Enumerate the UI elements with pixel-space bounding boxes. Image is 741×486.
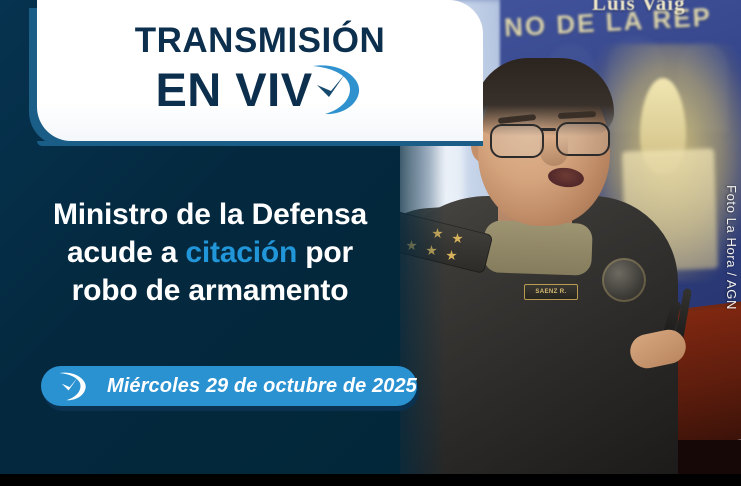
speaker-nose [540,136,568,166]
speaker-collar [483,220,593,276]
photo-credit: Foto La Hora / AGN [724,185,739,310]
live-stream-news-card: NO DE LA REP SAENZ R. L [0,0,741,486]
headline-line-2: acude a citación por [34,234,386,272]
bottom-bar [0,474,741,486]
live-title-line1: TRANSMISIÓN [135,23,386,58]
live-title-line2-row: EN VIV [155,60,364,118]
top-cut-caption: Luis Vaig [592,0,686,16]
date-badge: Miércoles 29 de octubre de 2025 [41,366,417,406]
headline-line-1: Ministro de la Defensa [34,196,386,234]
headline-accent-word: citación [185,236,297,269]
date-badge-text: Miércoles 29 de octubre de 2025 [107,375,417,398]
nameplate-text: SAENZ R. [535,289,566,295]
live-badge-card: TRANSMISIÓN EN VIV [37,0,483,141]
eyeglass-bridge [540,128,556,131]
live-card-underline [37,141,483,146]
headline: Ministro de la Defensa acude a citación … [34,196,386,309]
live-crescent-check-icon [305,60,365,118]
uniform-badge [602,258,646,302]
live-title-line2: EN VIV [155,66,312,113]
uniform-nameplate: SAENZ R. [524,284,578,300]
headline-line2-post: por [297,236,353,269]
eyeglass-lens [490,124,544,158]
headline-line2-pre: acude a [67,236,185,269]
live-crescent-check-icon [55,369,89,403]
headline-line-3: robo de armamento [34,272,386,310]
